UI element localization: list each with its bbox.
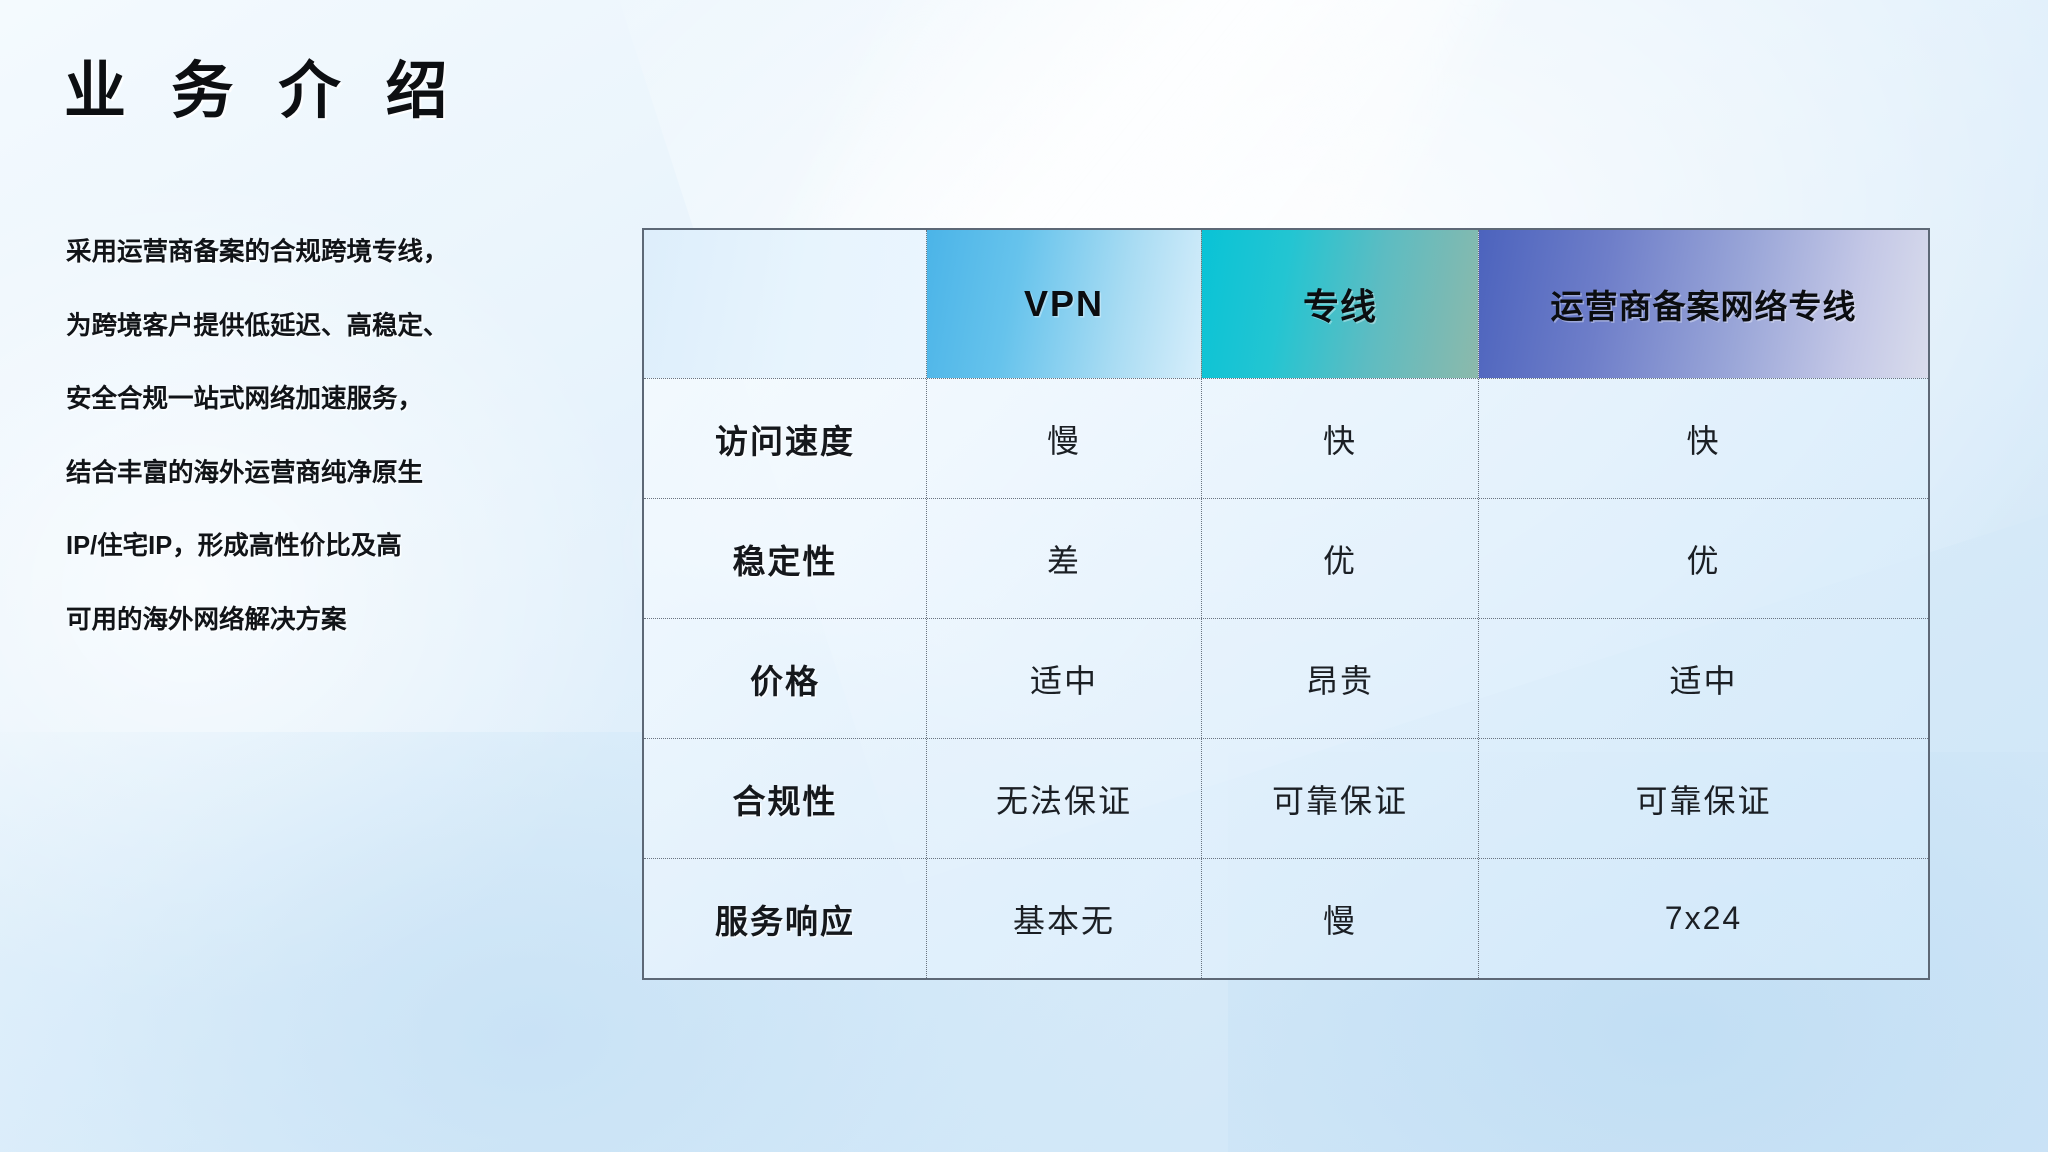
table-row-label: 价格	[750, 655, 820, 703]
intro-paragraph: 采用运营商备案的合规跨境专线， 为跨境客户提供低延迟、高稳定、 安全合规一站式网…	[66, 240, 486, 633]
table-cell: 可靠保证	[1201, 739, 1478, 858]
table-cell-value: 适中	[1030, 656, 1098, 702]
comparison-table: VPN 专线 运营商备案网络专线 访问速度 慢 快 快	[642, 228, 1930, 980]
slide-canvas: 业 务 介 绍 采用运营商备案的合规跨境专线， 为跨境客户提供低延迟、高稳定、 …	[0, 0, 2048, 1152]
table-row-label: 服务响应	[715, 895, 855, 943]
table-header-cell-licensed-line: 运营商备案网络专线	[1478, 230, 1928, 378]
table-header-cell-vpn: VPN	[926, 230, 1201, 378]
table-cell-value: 7x24	[1665, 900, 1742, 937]
table-cell: 慢	[926, 379, 1201, 498]
table-row: 服务响应 基本无 慢 7x24	[644, 858, 1928, 978]
table-cell-value: 快	[1323, 416, 1357, 462]
table-cell: 慢	[1201, 859, 1478, 978]
table-row-label-cell: 服务响应	[644, 859, 926, 978]
table-row-label: 访问速度	[715, 415, 855, 463]
table-cell: 快	[1201, 379, 1478, 498]
table-cell-value: 优	[1686, 536, 1720, 582]
table-cell-value: 无法保证	[996, 776, 1132, 822]
table-cell-value: 适中	[1669, 656, 1737, 702]
table-row-label: 合规性	[733, 775, 838, 823]
table-row: 合规性 无法保证 可靠保证 可靠保证	[644, 738, 1928, 858]
table-cell-value: 昂贵	[1306, 656, 1374, 702]
intro-line: 安全合规一站式网络加速服务，	[66, 387, 486, 413]
table-cell-value: 慢	[1047, 416, 1081, 462]
table-row-label-cell: 稳定性	[644, 499, 926, 618]
table-row-label-cell: 合规性	[644, 739, 926, 858]
table-cell: 无法保证	[926, 739, 1201, 858]
table-cell: 优	[1201, 499, 1478, 618]
table-cell-value: 可靠保证	[1272, 776, 1408, 822]
table-row-label: 稳定性	[733, 535, 838, 583]
intro-line: 可用的海外网络解决方案	[66, 608, 486, 634]
table-row: 访问速度 慢 快 快	[644, 378, 1928, 498]
table-header-cell-blank	[644, 230, 926, 378]
table-cell-value: 慢	[1323, 896, 1357, 942]
table-cell: 适中	[926, 619, 1201, 738]
table-header-cell-dedicated-line: 专线	[1201, 230, 1478, 378]
table-cell: 可靠保证	[1478, 739, 1928, 858]
table-header-label: 运营商备案网络专线	[1551, 280, 1857, 328]
intro-line: 结合丰富的海外运营商纯净原生	[66, 461, 486, 487]
table-cell-value: 差	[1047, 536, 1081, 582]
table-cell-value: 基本无	[1013, 896, 1115, 942]
table-header-row: VPN 专线 运营商备案网络专线	[644, 230, 1928, 378]
table-cell: 快	[1478, 379, 1928, 498]
table-row-label-cell: 访问速度	[644, 379, 926, 498]
page-title: 业 务 介 绍	[64, 58, 462, 126]
table-cell: 差	[926, 499, 1201, 618]
table-cell: 昂贵	[1201, 619, 1478, 738]
table-header-label: VPN	[1024, 283, 1104, 325]
table-header-label: 专线	[1303, 278, 1377, 330]
table-cell: 7x24	[1478, 859, 1928, 978]
intro-line: IP/住宅IP，形成高性价比及高	[66, 534, 486, 560]
table-row: 稳定性 差 优 优	[644, 498, 1928, 618]
table-cell-value: 可靠保证	[1635, 776, 1771, 822]
intro-line: 采用运营商备案的合规跨境专线，	[66, 240, 486, 266]
table-cell-value: 快	[1686, 416, 1720, 462]
table-row-label-cell: 价格	[644, 619, 926, 738]
table-cell: 基本无	[926, 859, 1201, 978]
table-cell: 适中	[1478, 619, 1928, 738]
intro-line: 为跨境客户提供低延迟、高稳定、	[66, 314, 486, 340]
table-row: 价格 适中 昂贵 适中	[644, 618, 1928, 738]
table-cell-value: 优	[1323, 536, 1357, 582]
table-cell: 优	[1478, 499, 1928, 618]
